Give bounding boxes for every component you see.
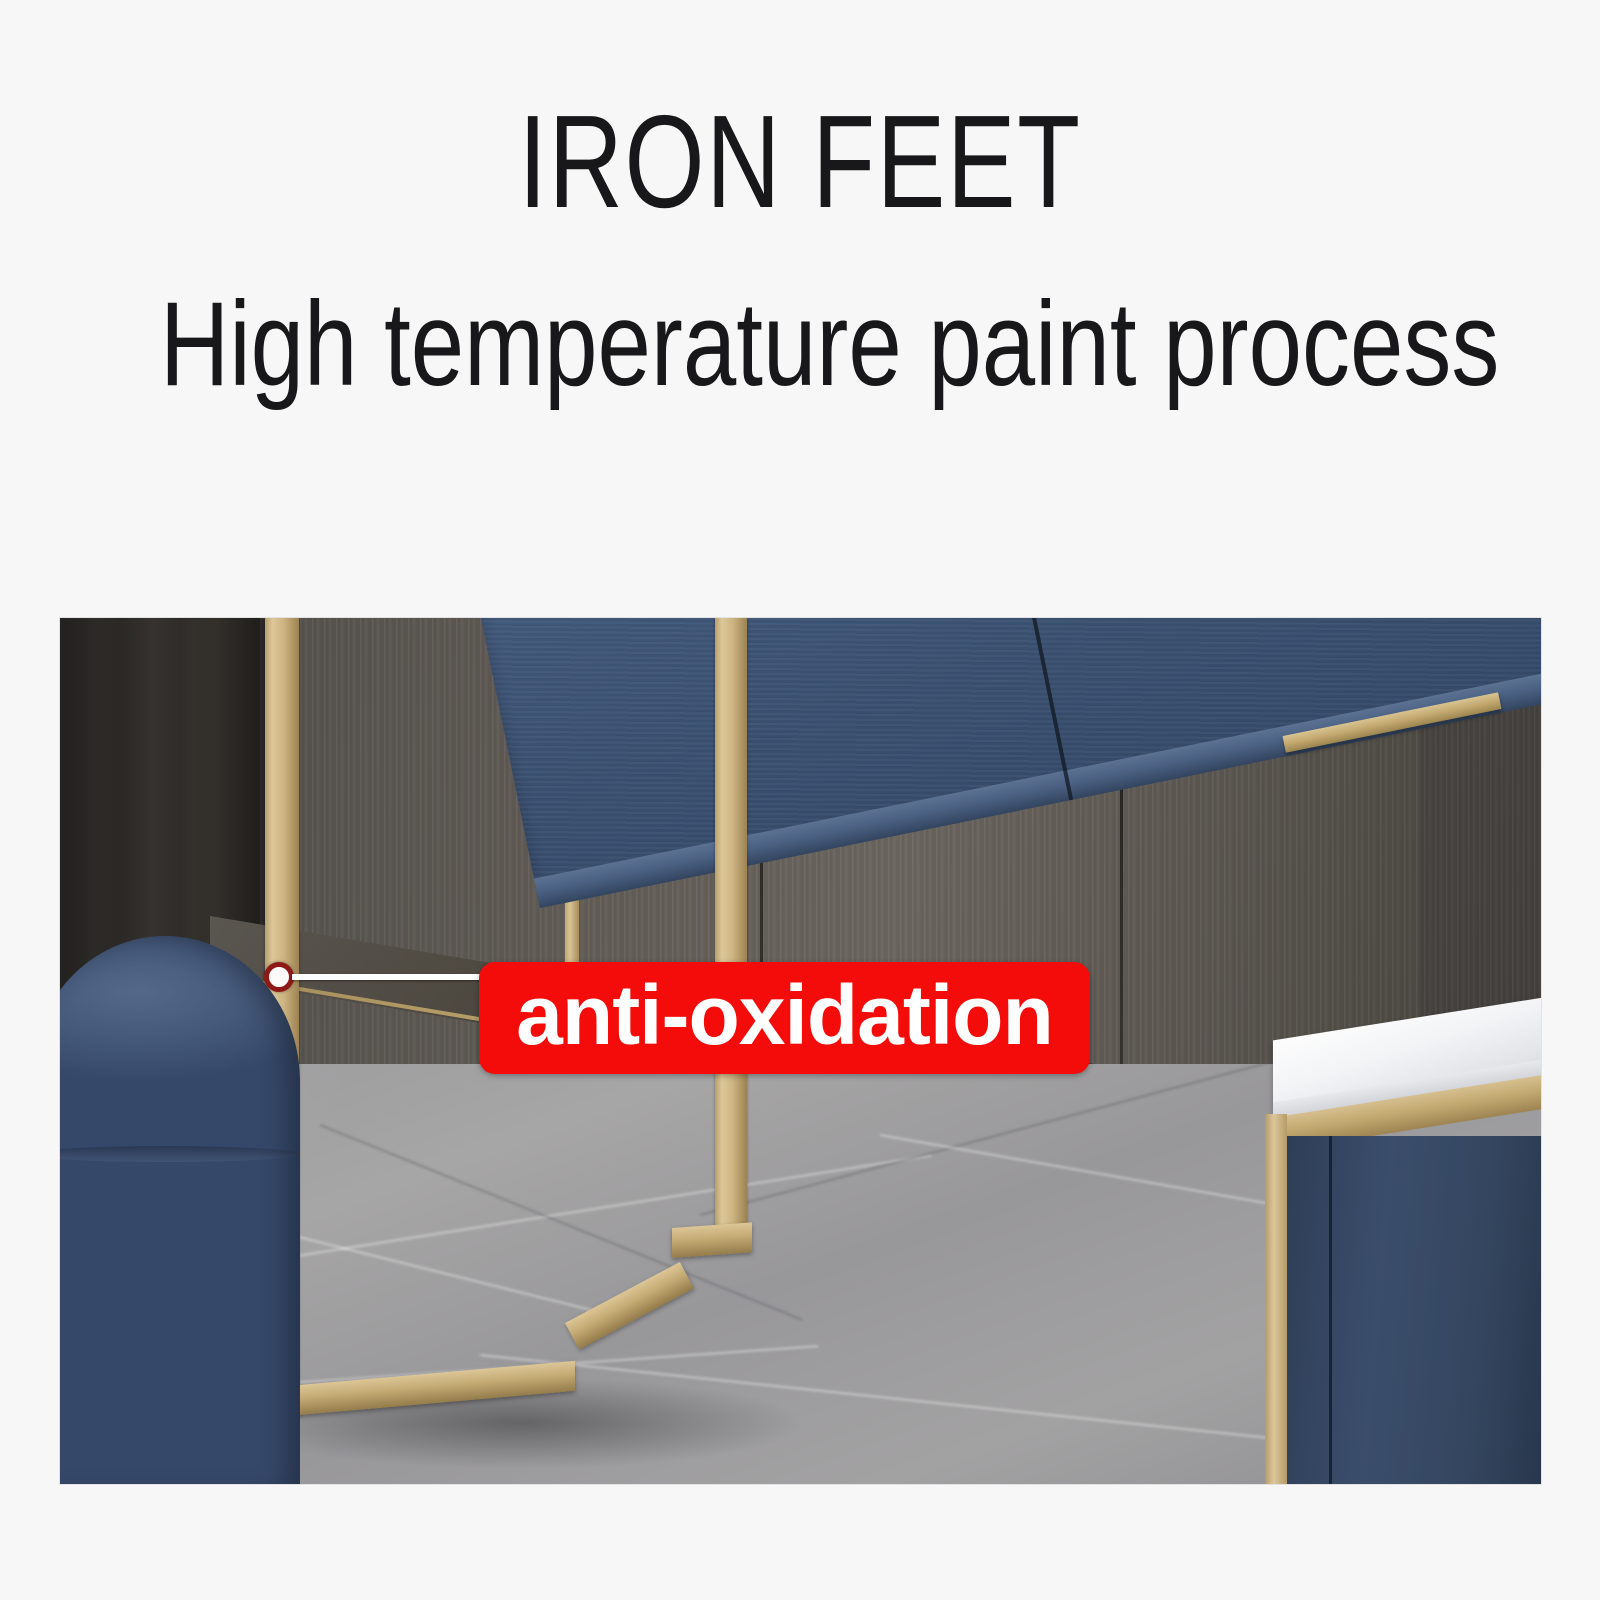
side-table (1245, 1018, 1541, 1484)
ottoman-seam (60, 1146, 300, 1162)
iron-leg-foot-rail-right (672, 1222, 752, 1258)
callout-dot-icon (264, 962, 294, 992)
floor-vein (240, 1155, 932, 1266)
blue-ottoman (60, 936, 300, 1484)
table-gold-frame-left (1265, 1114, 1287, 1484)
anti-oxidation-badge: anti-oxidation (479, 962, 1090, 1074)
floor-vein (700, 1059, 1280, 1216)
page-title: IRON FEET (176, 96, 1424, 228)
table-panel-seam (1329, 1136, 1332, 1484)
callout-leader-line (292, 974, 488, 980)
badge-label: anti-oxidation (516, 973, 1053, 1057)
page-subtitle: High temperature paint process (160, 282, 1440, 406)
table-blue-panel (1287, 1136, 1541, 1484)
iron-leg-post-right (715, 618, 747, 1248)
